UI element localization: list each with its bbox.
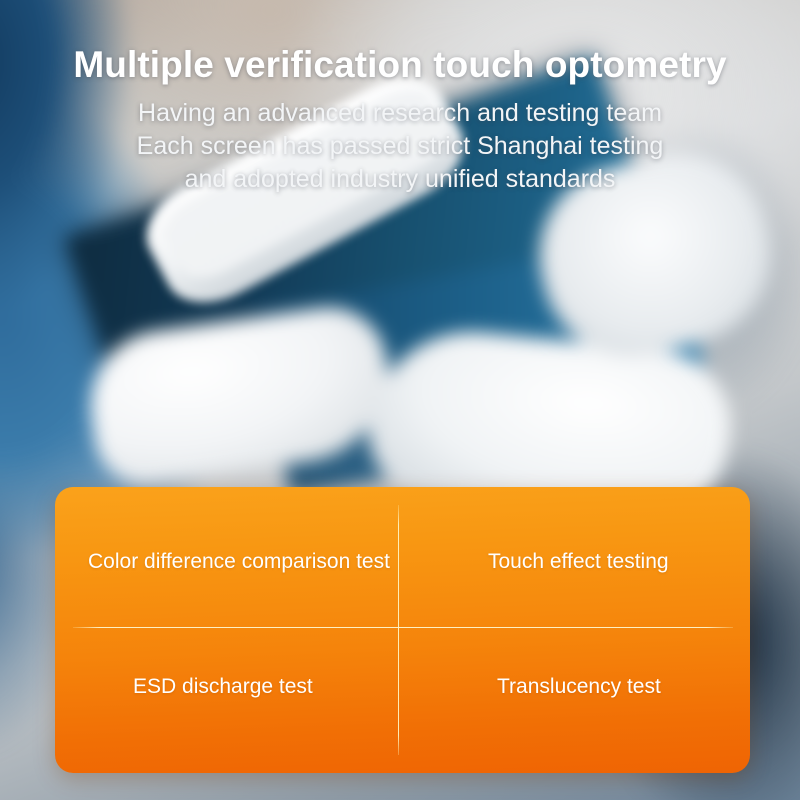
card-item-color-difference[interactable]: Color difference comparison test: [88, 542, 388, 582]
banner-root: Multiple verification touch optometry Ha…: [0, 0, 800, 800]
test-items-card: Color difference comparison test Touch e…: [55, 487, 750, 773]
card-item-label: Touch effect testing: [488, 550, 669, 574]
card-item-touch-effect[interactable]: Touch effect testing: [488, 542, 748, 582]
card-divider-vertical: [398, 505, 399, 755]
hero-text-block: Multiple verification touch optometry Ha…: [0, 44, 800, 196]
card-item-label: Translucency test: [497, 675, 661, 699]
card-item-label: ESD discharge test: [133, 675, 313, 699]
card-item-esd-discharge[interactable]: ESD discharge test: [133, 667, 393, 707]
card-item-label: Color difference comparison test: [88, 550, 390, 574]
card-divider-horizontal: [73, 627, 733, 628]
page-title: Multiple verification touch optometry: [0, 44, 800, 86]
hero-subtitle-line-3: and adopted industry unified standards: [0, 163, 800, 196]
hero-subtitle-line-1: Having an advanced research and testing …: [0, 97, 800, 130]
card-item-translucency[interactable]: Translucency test: [497, 667, 750, 707]
hero-subtitle-line-2: Each screen has passed strict Shanghai t…: [0, 130, 800, 163]
